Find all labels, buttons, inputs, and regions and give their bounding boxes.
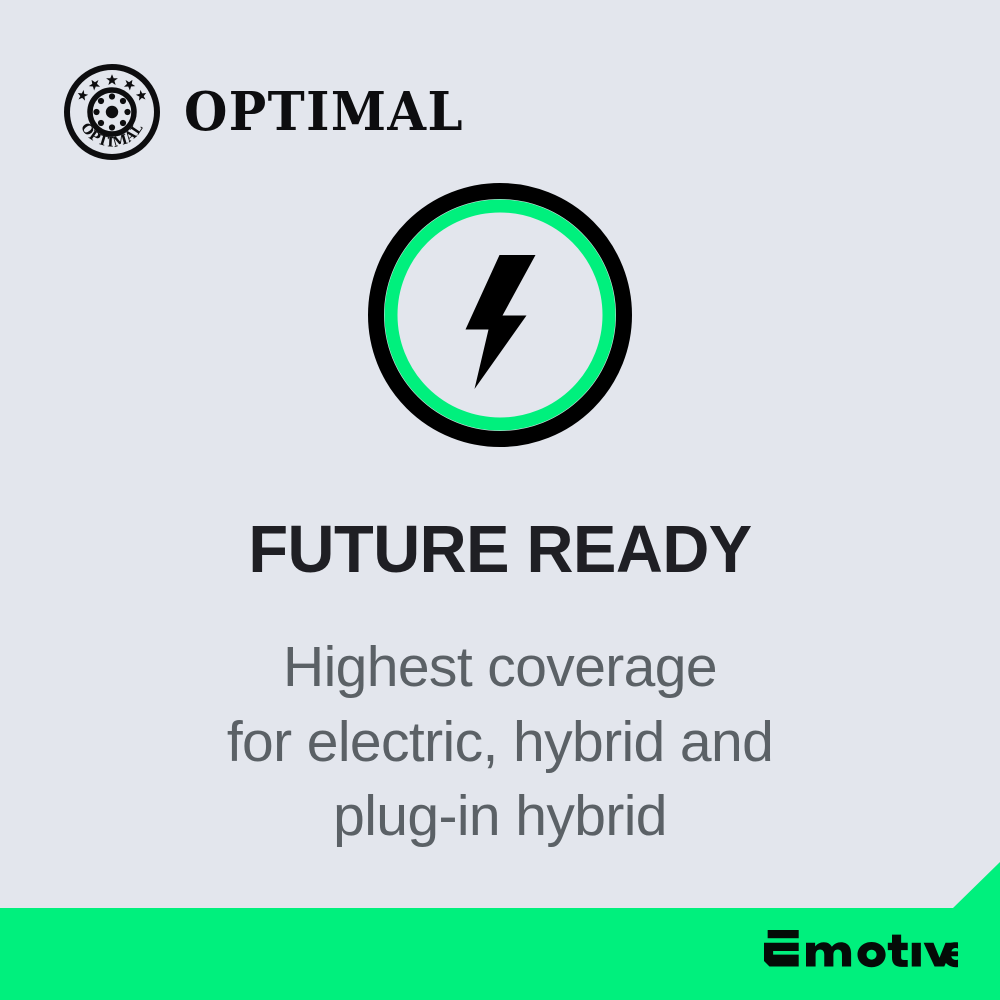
subtitle-line-2: for electric, hybrid and	[0, 705, 1000, 780]
hero-icon	[368, 183, 632, 447]
brand-wordmark: OPTIMAL	[184, 86, 464, 139]
subtitle-line-1: Highest coverage	[0, 630, 1000, 705]
lightning-bolt-in-circle-icon	[368, 183, 632, 447]
page-title: FUTURE READY	[15, 515, 985, 585]
subtitle-line-3: plug-in hybrid	[0, 779, 1000, 854]
optimal-bearing-seal-icon: OPTIMAL	[62, 62, 162, 162]
emotive-wordmark-logo	[764, 930, 958, 972]
brand-header: OPTIMAL OPTIMAL	[62, 62, 482, 162]
subtitle-block: Highest coverage for electric, hybrid an…	[0, 630, 1000, 854]
promo-card: OPTIMAL OPTIMAL FUTURE READY Highest cov…	[0, 0, 1000, 1000]
